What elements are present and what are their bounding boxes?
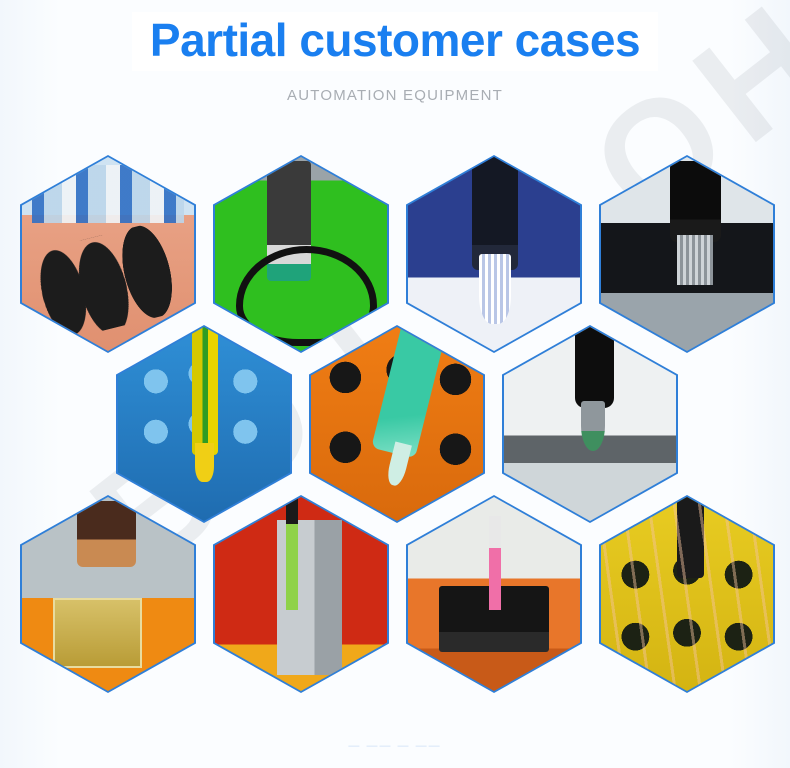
hex-case-2-frame [215, 157, 387, 351]
hex-case-6[interactable] [309, 325, 485, 523]
hex-case-7[interactable] [502, 325, 678, 523]
hex-case-7-frame [504, 327, 676, 521]
hex-case-5-photo [118, 327, 290, 521]
hex-case-10[interactable] [406, 495, 582, 693]
hex-case-11-photo [601, 497, 773, 691]
page-subtitle: AUTOMATION EQUIPMENT [0, 87, 790, 104]
hex-case-6-frame [311, 327, 483, 521]
hex-case-9-photo [215, 497, 387, 691]
hex-case-5[interactable] [116, 325, 292, 523]
hex-case-3-frame [408, 157, 580, 351]
hex-case-5-frame [118, 327, 290, 521]
hex-case-11[interactable] [599, 495, 775, 693]
hex-case-6-photo [311, 327, 483, 521]
hex-case-2[interactable] [213, 155, 389, 353]
hex-case-9-frame [215, 497, 387, 691]
hex-case-11-frame [601, 497, 773, 691]
hex-case-8-photo [22, 497, 194, 691]
hex-case-3-photo [408, 157, 580, 351]
footer-note: — —— — —— [0, 740, 790, 752]
hex-case-3[interactable] [406, 155, 582, 353]
hex-case-9[interactable] [213, 495, 389, 693]
hex-case-8[interactable] [20, 495, 196, 693]
hex-case-4[interactable] [599, 155, 775, 353]
hex-case-4-photo [601, 157, 773, 351]
page-title: Partial customer cases [132, 12, 658, 71]
hex-case-1-frame [22, 157, 194, 351]
hex-case-10-photo [408, 497, 580, 691]
hexagon-gallery [0, 0, 790, 768]
hex-case-10-frame [408, 497, 580, 691]
hex-case-4-frame [601, 157, 773, 351]
hex-case-1[interactable] [20, 155, 196, 353]
hex-case-7-photo [504, 327, 676, 521]
hex-case-1-photo [22, 157, 194, 351]
page-header: Partial customer cases AUTOMATION EQUIPM… [0, 0, 790, 104]
hex-case-2-photo [215, 157, 387, 351]
hex-case-8-frame [22, 497, 194, 691]
